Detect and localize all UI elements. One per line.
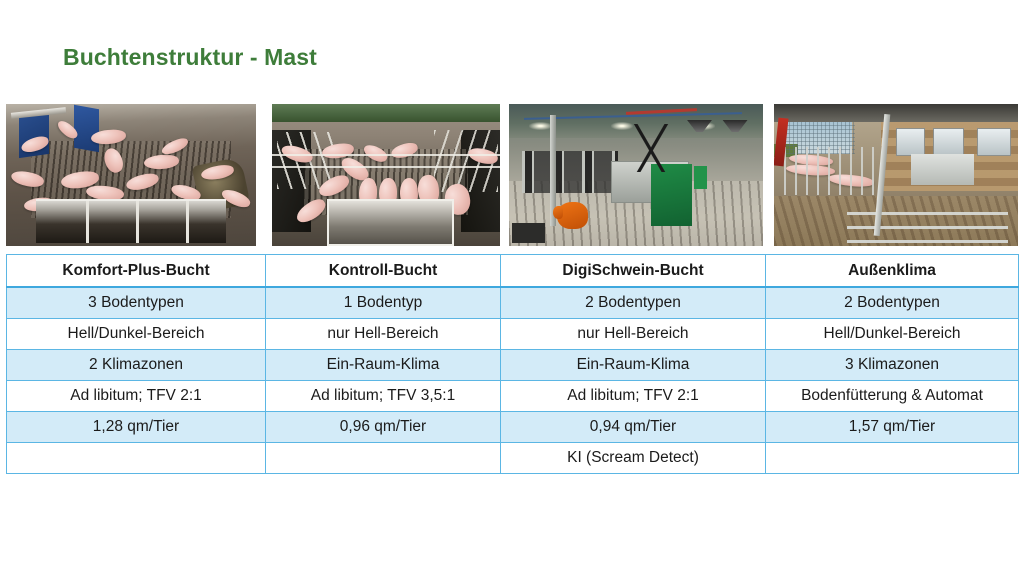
table-cell: KI (Scream Detect) bbox=[501, 443, 766, 474]
robot-arm bbox=[628, 124, 674, 172]
orange-pig-model bbox=[557, 202, 587, 229]
table-cell bbox=[766, 443, 1019, 474]
table-row: 1,28 qm/Tier 0,96 qm/Tier 0,94 qm/Tier 1… bbox=[7, 412, 1019, 443]
table-cell: 1,28 qm/Tier bbox=[7, 412, 266, 443]
overhead-wire bbox=[272, 166, 500, 168]
table-cell: 0,96 qm/Tier bbox=[266, 412, 501, 443]
table-cell: nur Hell-Bereich bbox=[501, 319, 766, 350]
blue-panel-right bbox=[74, 105, 99, 152]
table-cell: 2 Bodentypen bbox=[766, 287, 1019, 319]
table-cell: 3 Klimazonen bbox=[766, 350, 1019, 381]
photo-kontroll-bucht bbox=[272, 104, 500, 246]
column-header-aussenklima: Außenklima bbox=[766, 255, 1019, 288]
table-cell: 1,57 qm/Tier bbox=[766, 412, 1019, 443]
photo-komfort-plus-bucht bbox=[6, 104, 256, 246]
photo-digischwein-bucht bbox=[509, 104, 763, 246]
table-row: Ad libitum; TFV 2:1 Ad libitum; TFV 3,5:… bbox=[7, 381, 1019, 412]
wall-panel bbox=[911, 154, 974, 185]
barn-roof bbox=[774, 104, 1018, 122]
green-panel-small bbox=[694, 166, 707, 189]
table-cell: Bodenfütterung & Automat bbox=[766, 381, 1019, 412]
barn-window bbox=[896, 128, 925, 156]
table-cell: Ein-Raum-Klima bbox=[501, 350, 766, 381]
table-header-row: Komfort-Plus-Bucht Kontroll-Bucht DigiSc… bbox=[7, 255, 1019, 288]
column-header-kontroll-bucht: Kontroll-Bucht bbox=[266, 255, 501, 288]
table-cell: Ad libitum; TFV 2:1 bbox=[501, 381, 766, 412]
pen-railings bbox=[784, 147, 882, 195]
table-row: 2 Klimazonen Ein-Raum-Klima Ein-Raum-Kli… bbox=[7, 350, 1019, 381]
table-cell: 1 Bodentyp bbox=[266, 287, 501, 319]
barn-window bbox=[933, 128, 964, 156]
table-cell: Ein-Raum-Klima bbox=[266, 350, 501, 381]
photo-strip bbox=[0, 104, 1024, 246]
table-row: KI (Scream Detect) bbox=[7, 443, 1019, 474]
table-cell: nur Hell-Bereich bbox=[266, 319, 501, 350]
table-cell: Hell/Dunkel-Bereich bbox=[766, 319, 1019, 350]
floor-mat bbox=[512, 223, 545, 243]
metal-gate bbox=[847, 206, 1008, 243]
table-cell: Ad libitum; TFV 2:1 bbox=[7, 381, 266, 412]
table-cell bbox=[266, 443, 501, 474]
table-cell: 0,94 qm/Tier bbox=[501, 412, 766, 443]
feeding-trough bbox=[327, 199, 454, 246]
trough-divider bbox=[136, 201, 139, 244]
feeding-trough bbox=[36, 199, 226, 244]
slide-canvas: Buchtenstruktur - Mast bbox=[0, 0, 1024, 576]
column-header-digischwein-bucht: DigiSchwein-Bucht bbox=[501, 255, 766, 288]
pen-partitions bbox=[522, 151, 619, 194]
comparison-table: Komfort-Plus-Bucht Kontroll-Bucht DigiSc… bbox=[6, 254, 1019, 474]
table-cell: 2 Klimazonen bbox=[7, 350, 266, 381]
trough-divider bbox=[186, 201, 189, 244]
table-row: 3 Bodentypen 1 Bodentyp 2 Bodentypen 2 B… bbox=[7, 287, 1019, 319]
table-cell bbox=[7, 443, 266, 474]
table-cell: 2 Bodentypen bbox=[501, 287, 766, 319]
green-panel bbox=[651, 164, 692, 226]
barn-window bbox=[977, 128, 1011, 156]
page-title: Buchtenstruktur - Mast bbox=[63, 44, 317, 71]
photo-aussenklima bbox=[774, 104, 1018, 246]
table-row: Hell/Dunkel-Bereich nur Hell-Bereich nur… bbox=[7, 319, 1019, 350]
table-cell: Ad libitum; TFV 3,5:1 bbox=[266, 381, 501, 412]
table-cell: 3 Bodentypen bbox=[7, 287, 266, 319]
trough-divider bbox=[86, 201, 89, 244]
table-cell: Hell/Dunkel-Bereich bbox=[7, 319, 266, 350]
overhead-wire bbox=[272, 154, 500, 156]
column-header-komfort-plus-bucht: Komfort-Plus-Bucht bbox=[7, 255, 266, 288]
green-wall bbox=[272, 104, 500, 122]
